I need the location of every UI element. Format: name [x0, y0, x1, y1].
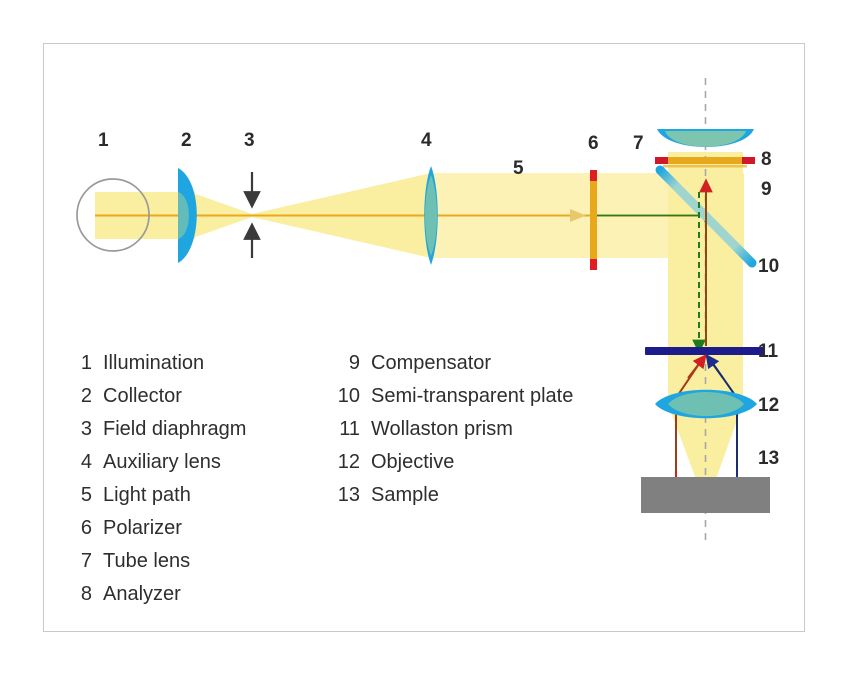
- callout-12: 12: [758, 396, 779, 415]
- callout-6: 6: [588, 134, 599, 153]
- legend-number: 6: [62, 517, 92, 540]
- legend-item-4: 4 Auxiliary lens: [62, 451, 246, 484]
- legend-label: Tube lens: [103, 550, 190, 573]
- legend: 1 Illumination 2 Collector 3 Field diaph…: [62, 352, 622, 614]
- legend-item-2: 2 Collector: [62, 385, 246, 418]
- legend-item-1: 1 Illumination: [62, 352, 246, 385]
- legend-label: Wollaston prism: [371, 418, 513, 441]
- callout-10: 10: [758, 257, 779, 276]
- legend-number: 1: [62, 352, 92, 375]
- legend-label: Polarizer: [103, 517, 182, 540]
- legend-number: 13: [330, 484, 360, 507]
- legend-item-7: 7 Tube lens: [62, 550, 246, 583]
- legend-label: Illumination: [103, 352, 204, 375]
- legend-item-11: 11 Wollaston prism: [330, 418, 573, 451]
- optical-diagram: 1 2 3 4 5 6 7 8 9 10 11 12 13 1 Illumina…: [0, 0, 850, 678]
- legend-number: 2: [62, 385, 92, 408]
- legend-label: Field diaphragm: [103, 418, 246, 441]
- callout-9: 9: [761, 180, 772, 199]
- legend-label: Analyzer: [103, 583, 181, 606]
- legend-label: Semi-transparent plate: [371, 385, 573, 408]
- callout-3: 3: [244, 131, 255, 150]
- legend-item-10: 10 Semi-transparent plate: [330, 385, 573, 418]
- sample-block: [641, 477, 770, 513]
- callout-5: 5: [513, 159, 524, 178]
- legend-label: Sample: [371, 484, 439, 507]
- legend-label: Compensator: [371, 352, 491, 375]
- wollaston-prism: [645, 347, 763, 355]
- callout-11: 11: [758, 342, 778, 361]
- callout-4: 4: [421, 131, 432, 150]
- tube-lens: [657, 129, 754, 147]
- legend-number: 12: [330, 451, 360, 474]
- legend-label: Light path: [103, 484, 191, 507]
- legend-column-left: 1 Illumination 2 Collector 3 Field diaph…: [62, 352, 246, 616]
- legend-item-5: 5 Light path: [62, 484, 246, 517]
- legend-number: 3: [62, 418, 92, 441]
- polarizer: [590, 170, 597, 270]
- legend-item-12: 12 Objective: [330, 451, 573, 484]
- compensator: [663, 165, 747, 168]
- legend-column-right: 9 Compensator 10 Semi-transparent plate …: [330, 352, 573, 517]
- legend-number: 10: [330, 385, 360, 408]
- legend-number: 4: [62, 451, 92, 474]
- legend-label: Auxiliary lens: [103, 451, 221, 474]
- legend-item-6: 6 Polarizer: [62, 517, 246, 550]
- legend-item-13: 13 Sample: [330, 484, 573, 517]
- legend-label: Collector: [103, 385, 182, 408]
- legend-item-3: 3 Field diaphragm: [62, 418, 246, 451]
- callout-1: 1: [98, 131, 109, 150]
- callout-2: 2: [181, 131, 192, 150]
- legend-number: 9: [330, 352, 360, 375]
- legend-item-8: 8 Analyzer: [62, 583, 246, 616]
- legend-number: 7: [62, 550, 92, 573]
- legend-number: 8: [62, 583, 92, 606]
- legend-label: Objective: [371, 451, 454, 474]
- legend-number: 5: [62, 484, 92, 507]
- legend-item-9: 9 Compensator: [330, 352, 573, 385]
- legend-number: 11: [330, 418, 360, 441]
- collector-lens: [178, 168, 197, 263]
- callout-13: 13: [758, 449, 779, 468]
- callout-7: 7: [633, 134, 644, 153]
- callout-8: 8: [761, 150, 772, 169]
- analyzer: [655, 157, 755, 164]
